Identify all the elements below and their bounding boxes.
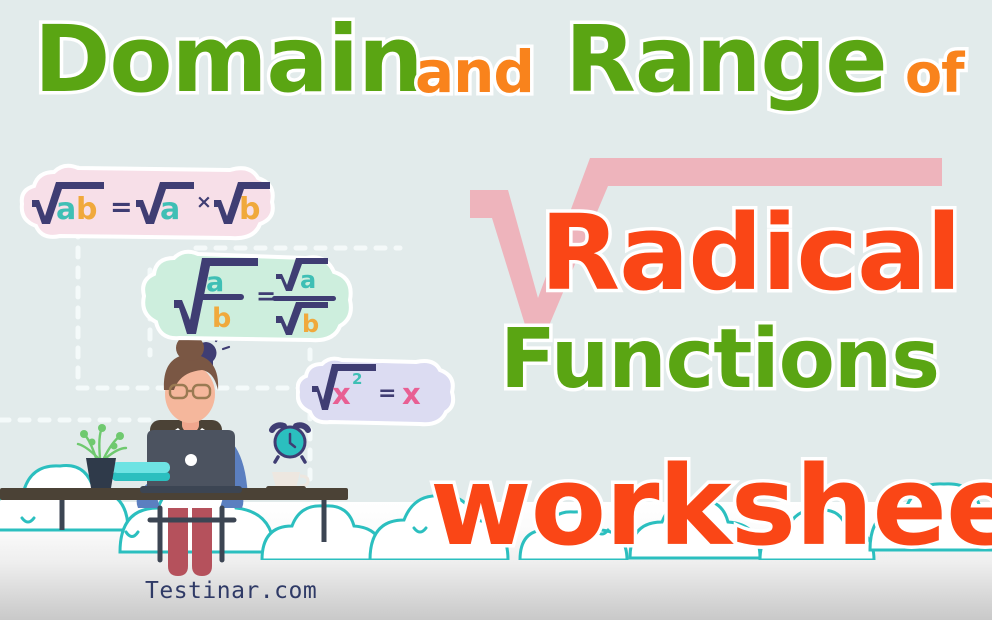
svg-text:b: b (212, 303, 231, 334)
headline-word-functions: Functions (500, 312, 939, 407)
headline-word-radical: Radical (540, 192, 961, 314)
svg-text:b: b (302, 310, 319, 338)
formula-bubble-quotient-rule: a b = a b (140, 244, 355, 359)
formula-result-x: x (402, 377, 421, 411)
brand-watermark: Testinar.com (145, 578, 317, 604)
svg-text:b: b (76, 192, 97, 227)
headline-word-worksheet: worksheet (430, 442, 992, 570)
formula-equals: = (256, 282, 276, 310)
svg-text:x: x (332, 377, 351, 411)
coffee-cup (266, 472, 308, 491)
formula-equals: = (378, 381, 396, 406)
svg-text:a: a (160, 192, 180, 227)
svg-text:a: a (56, 192, 76, 227)
formula-bubble-product-rule: a b = a × b (18, 160, 278, 250)
svg-text:a: a (300, 266, 316, 294)
headline-word-of: of (905, 42, 964, 105)
formula-times: × (196, 191, 212, 213)
headline-word-domain: Domain (34, 6, 423, 113)
laptop (140, 430, 242, 493)
headline-word-range: Range (565, 6, 887, 113)
svg-text:b: b (239, 192, 260, 227)
formula-equals: = (110, 192, 133, 223)
formula-bubble-square-rule: x 2 = x (296, 352, 456, 432)
svg-text:a: a (206, 267, 224, 298)
stacked-books (112, 462, 170, 481)
svg-text:2: 2 (352, 370, 362, 388)
poster-canvas: Domain and Range of Radical Functions wo… (0, 0, 992, 620)
headline-word-and: and (415, 38, 534, 106)
